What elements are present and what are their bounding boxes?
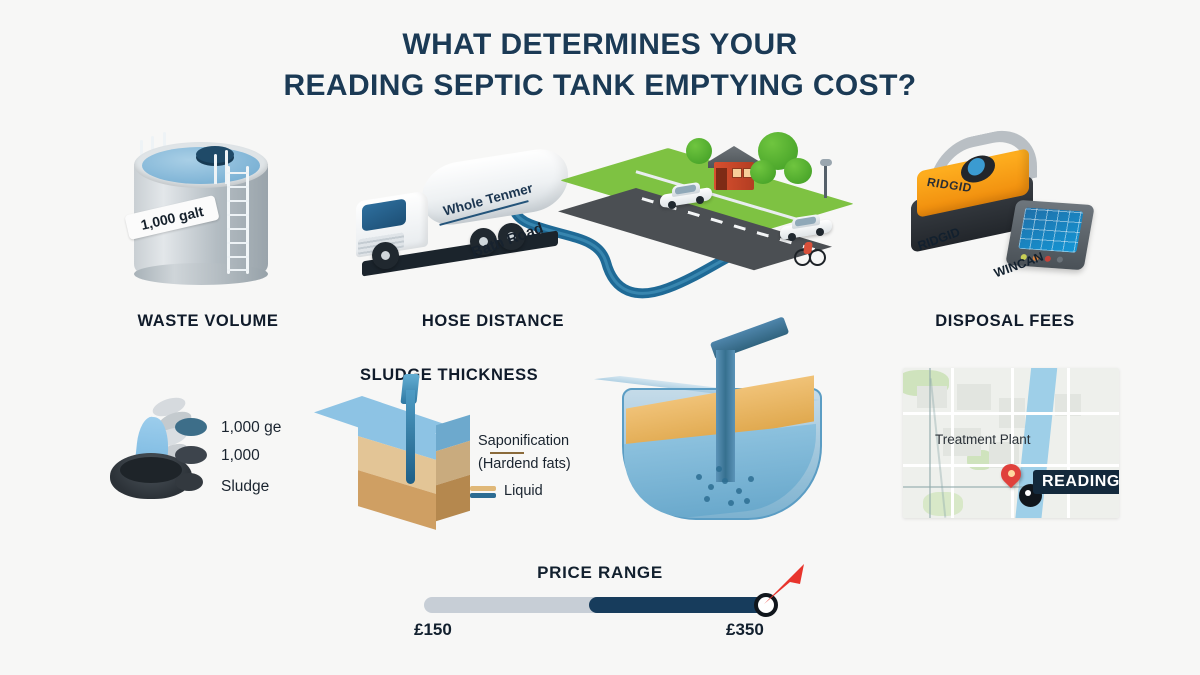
map-city-badge: READING bbox=[1033, 470, 1119, 494]
price-range-min-label: £150 bbox=[414, 620, 452, 640]
price-range-track[interactable] bbox=[424, 597, 776, 613]
legend-dot bbox=[175, 473, 203, 491]
title-line-1: WHAT DETERMINES YOUR bbox=[0, 24, 1200, 65]
tree-icon bbox=[784, 158, 812, 184]
annotation-saponification-line2: (Hardend fats) bbox=[478, 456, 571, 472]
tank-cross-section-illustration bbox=[612, 358, 842, 538]
cyclist-icon bbox=[794, 242, 824, 264]
legend-label-liquid: Liquid bbox=[504, 483, 543, 499]
caption-disposal-fees: DISPOSAL FEES bbox=[905, 312, 1105, 331]
annotation-saponification-line1: Saponification bbox=[478, 433, 569, 449]
pit-bowl-inner bbox=[120, 457, 182, 483]
tree-icon bbox=[750, 160, 776, 184]
legend-dot bbox=[175, 446, 207, 464]
title-line-2: READING SEPTIC TANK EMPTYING COST? bbox=[0, 65, 1200, 106]
tanker-truck-illustration: Whole Tenmer bbox=[338, 150, 588, 300]
map-place-label: Treatment Plant bbox=[935, 432, 1031, 447]
truck-wheel bbox=[372, 242, 399, 269]
sludge-layers-illustration bbox=[358, 396, 486, 524]
street-scene-illustration bbox=[628, 126, 850, 296]
legend-swatch-sludge bbox=[470, 486, 496, 491]
price-range-title: PRICE RANGE bbox=[0, 563, 1200, 583]
reading-location-map[interactable]: Treatment Plant READING bbox=[903, 368, 1119, 518]
caption-hose-distance: HOSE DISTANCE bbox=[398, 312, 588, 331]
car-icon bbox=[780, 216, 832, 240]
caption-waste-volume: WASTE VOLUME bbox=[118, 312, 298, 331]
sludge-front-face bbox=[358, 422, 436, 504]
annotation-leader-line bbox=[490, 452, 524, 454]
truck-tank bbox=[422, 144, 568, 229]
legend-dot-label: 1,000 ge bbox=[221, 419, 281, 437]
sludge-probe bbox=[406, 390, 415, 484]
car-icon bbox=[660, 184, 712, 208]
map-pin-icon[interactable] bbox=[1001, 464, 1021, 491]
legend-dot-label: Sludge bbox=[221, 478, 269, 496]
legend-swatch-liquid bbox=[470, 493, 496, 498]
legend-dot-label: 1,000 bbox=[221, 447, 260, 465]
infographic-canvas: WHAT DETERMINES YOUR READING SEPTIC TANK… bbox=[0, 0, 1200, 675]
waste-volume-illustration: 1,000 galt bbox=[118, 126, 298, 291]
price-range-max-label: £350 bbox=[726, 620, 764, 640]
price-range-fill bbox=[589, 597, 776, 613]
page-title: WHAT DETERMINES YOUR READING SEPTIC TANK… bbox=[0, 24, 1200, 107]
monitor-screen bbox=[1018, 207, 1083, 252]
price-range-arrow-icon bbox=[760, 562, 810, 608]
tank-ladder bbox=[227, 166, 249, 274]
street-lamp-icon bbox=[824, 164, 827, 198]
suction-pipe bbox=[716, 350, 735, 482]
caption-sludge-thickness: SLUDGE THICKNESS bbox=[360, 366, 560, 385]
legend-dot bbox=[175, 418, 207, 436]
